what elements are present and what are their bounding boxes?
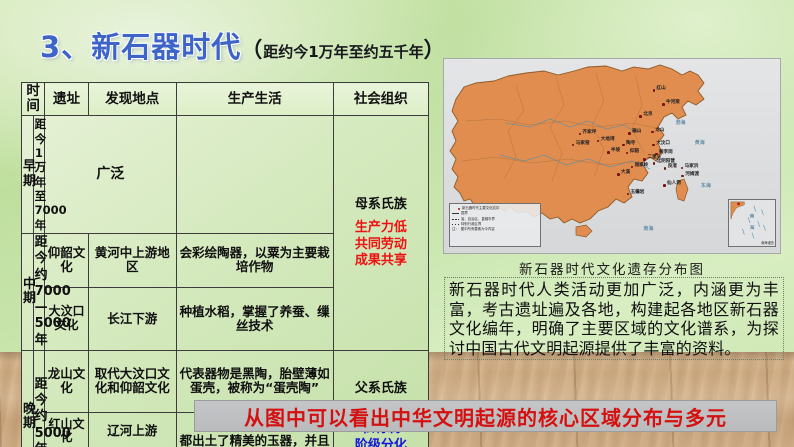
- legend-row-note: 注： 图中所有要素为今内容: [452, 227, 538, 232]
- title-number: 3、: [40, 24, 91, 66]
- cell-site-longshan: 龙山文化: [45, 350, 89, 412]
- national-border-line-icon: [452, 213, 459, 214]
- map-site-label: 良渚: [668, 165, 677, 170]
- cell-time-late: 距今约 5000年: [33, 350, 45, 447]
- table-row-early: 早期 距今1万年 至7000年 广泛 母系氏族 生产力低 共同劳动 成果共享: [22, 116, 429, 234]
- title-subtitle: 距约今1万年至约五千年: [263, 41, 423, 62]
- map-site-dot: [617, 173, 620, 176]
- cell-social-late: 父系氏族 贫富分化 私有制 阶级分化: [333, 350, 428, 447]
- china-neolithic-map[interactable]: 红山牛河梁北京龙山大汶口磁山裴李岗陶寺齐家坪大地湾马家窑半坡仰韶二里头北阴阳营屈…: [443, 58, 781, 254]
- svg-text:海: 海: [750, 224, 755, 231]
- map-site-label: 大汶口: [656, 142, 670, 147]
- map-site-label: 龙山: [655, 129, 664, 134]
- map-site-label: 仰韶: [630, 150, 639, 155]
- title-paren-close: ）: [424, 34, 445, 64]
- table-header-row: 时间 遗址 发现地点 生产生活 社会组织: [22, 83, 429, 116]
- social-late-3: 阶级分化: [335, 438, 427, 447]
- map-site-dot: [622, 144, 625, 147]
- map-site-label: 河姆渡: [685, 173, 699, 178]
- social-mid-1: 共同劳动: [335, 237, 427, 253]
- hainan-island-path: [576, 225, 592, 237]
- col-header-time: 时间: [22, 83, 45, 116]
- social-early-0: 母系氏族: [335, 197, 427, 213]
- legend-label-note: 图中所有要素为今内容: [461, 227, 495, 232]
- map-sea-label: 东海: [701, 184, 711, 189]
- neolithic-table: 时间 遗址 发现地点 生产生活 社会组织 早期 距今1万年 至7000年: [21, 82, 429, 447]
- map-caption: 新石器时代文化遗存分布图: [443, 258, 781, 278]
- time-middle-line2: 7000—: [35, 284, 44, 317]
- cell-site-hongshan: 红山文化: [45, 412, 89, 447]
- time-middle-line1: 距今约: [35, 235, 44, 284]
- map-site-label: 红山: [657, 87, 666, 92]
- map-site-dot: [681, 175, 684, 178]
- time-late-line1: 距今约: [35, 377, 44, 426]
- map-site-label: 齐家坪: [583, 131, 597, 136]
- map-site-dot: [651, 131, 654, 134]
- slide-canvas: 3、 新石器时代 （ 距约今1万年至约五千年 ） 时间 遗址 发现地点 生产生活…: [0, 0, 794, 447]
- map-sea-label: 黄海: [695, 141, 705, 146]
- map-site-label: 马家浜: [685, 165, 699, 170]
- map-site-dot: [662, 103, 665, 106]
- cell-life-yangshao: 会彩绘陶器，以粟为主要栽培作物: [176, 234, 333, 288]
- map-site-dot: [653, 89, 656, 92]
- province-border-line-icon: [452, 219, 459, 220]
- map-site-label: 马家窑: [576, 142, 590, 147]
- cell-period-early: 早期: [22, 116, 34, 234]
- col-header-place: 发现地点: [88, 83, 176, 116]
- cell-life-early: [176, 116, 333, 234]
- inset-svg: 南 海: [729, 200, 775, 246]
- col-header-site: 遗址: [45, 83, 89, 116]
- conclusion-banner-text: 从图中可以看出中华文明起源的核心区域分布与多元: [244, 402, 727, 431]
- map-site-label: 大地湾: [601, 138, 615, 143]
- social-mid-0: 生产力低: [335, 220, 427, 236]
- cell-site-yangshao: 仰韶文化: [45, 234, 89, 288]
- map-sea-label: 南海: [643, 227, 653, 232]
- map-site-label: 屈家岭: [635, 164, 649, 169]
- time-early-line2: 至7000年: [35, 189, 44, 232]
- time-middle-line3: 5000年: [35, 316, 44, 349]
- cell-life-dawenkou: 种植水稻，掌握了养蚕、缫丝技术: [176, 287, 333, 350]
- legend-site-dot-icon: [458, 208, 460, 210]
- map-site-dot: [652, 144, 655, 147]
- map-site-label: 半坡: [611, 149, 620, 154]
- map-site-label: 牛河梁: [666, 101, 680, 106]
- explanation-paragraph: 新石器时代人类活动更加广泛，内涵更为丰富，考古遗址遍及各地，构建起各地区新石器文…: [444, 277, 784, 360]
- cell-place-hongshan: 辽河上游: [88, 412, 176, 447]
- cell-period-middle: 中期: [22, 234, 34, 351]
- svg-text:南: 南: [750, 212, 755, 219]
- neolithic-table-wrapper: 时间 遗址 发现地点 生产生活 社会组织 早期 距今1万年 至7000年: [21, 82, 429, 447]
- map-site-dot: [607, 151, 610, 154]
- inset-label: 南海诸岛: [761, 242, 774, 246]
- map-legend: 新石器时代主要文化遗存 国界 省、自治区、直辖市界 特别行政区界 注： 图中所有…: [449, 203, 541, 247]
- cell-place-yangshao: 黄河中上游地区: [88, 234, 176, 288]
- map-site-label: 玉蟾岩: [631, 191, 645, 196]
- slide-title: 3、 新石器时代 （ 距约今1万年至约五千年 ）: [40, 24, 445, 66]
- social-mid-2: 成果共享: [335, 253, 427, 269]
- map-site-dot: [639, 115, 642, 118]
- cell-period-late: 晚期: [22, 350, 34, 447]
- col-header-social: 社会组织: [333, 83, 428, 116]
- map-site-dot: [628, 132, 631, 135]
- map-site-label: 大溪: [621, 171, 630, 176]
- title-main-text: 新石器时代: [91, 24, 241, 66]
- map-site-dot: [663, 184, 666, 187]
- title-paren-open: （: [241, 34, 262, 64]
- cell-place-dawenkou: 长江下游: [88, 287, 176, 350]
- cell-social-early-mid: 母系氏族 生产力低 共同劳动 成果共享: [333, 116, 428, 351]
- cell-time-middle: 距今约 7000— 5000年: [33, 234, 45, 351]
- map-sea-label: 渤海: [676, 121, 686, 126]
- legend-note-prefix: 注：: [452, 227, 459, 232]
- map-site-dot: [643, 158, 646, 161]
- cell-place-longshan: 取代大汶口文化和仰韶文化: [88, 350, 176, 412]
- map-site-label: 北京: [643, 113, 652, 118]
- time-late-line2: 5000年: [35, 426, 44, 447]
- map-site-label: 仙人洞: [667, 182, 681, 187]
- map-site-label: 磁山: [632, 130, 641, 135]
- site-early-label: 广泛: [96, 166, 124, 182]
- time-early-line1: 距今1万年: [35, 117, 44, 189]
- col-header-life: 生产生活: [176, 83, 333, 116]
- social-late-0: 父系氏族: [335, 381, 427, 397]
- south-china-sea-inset: 南 海 南海诸岛: [728, 199, 776, 247]
- special-border-line-icon: [452, 224, 459, 225]
- map-site-label: 陶寺: [626, 142, 635, 147]
- conclusion-banner: 从图中可以看出中华文明起源的核心区域分布与多元: [194, 400, 777, 432]
- cell-time-early: 距今1万年 至7000年: [33, 116, 45, 234]
